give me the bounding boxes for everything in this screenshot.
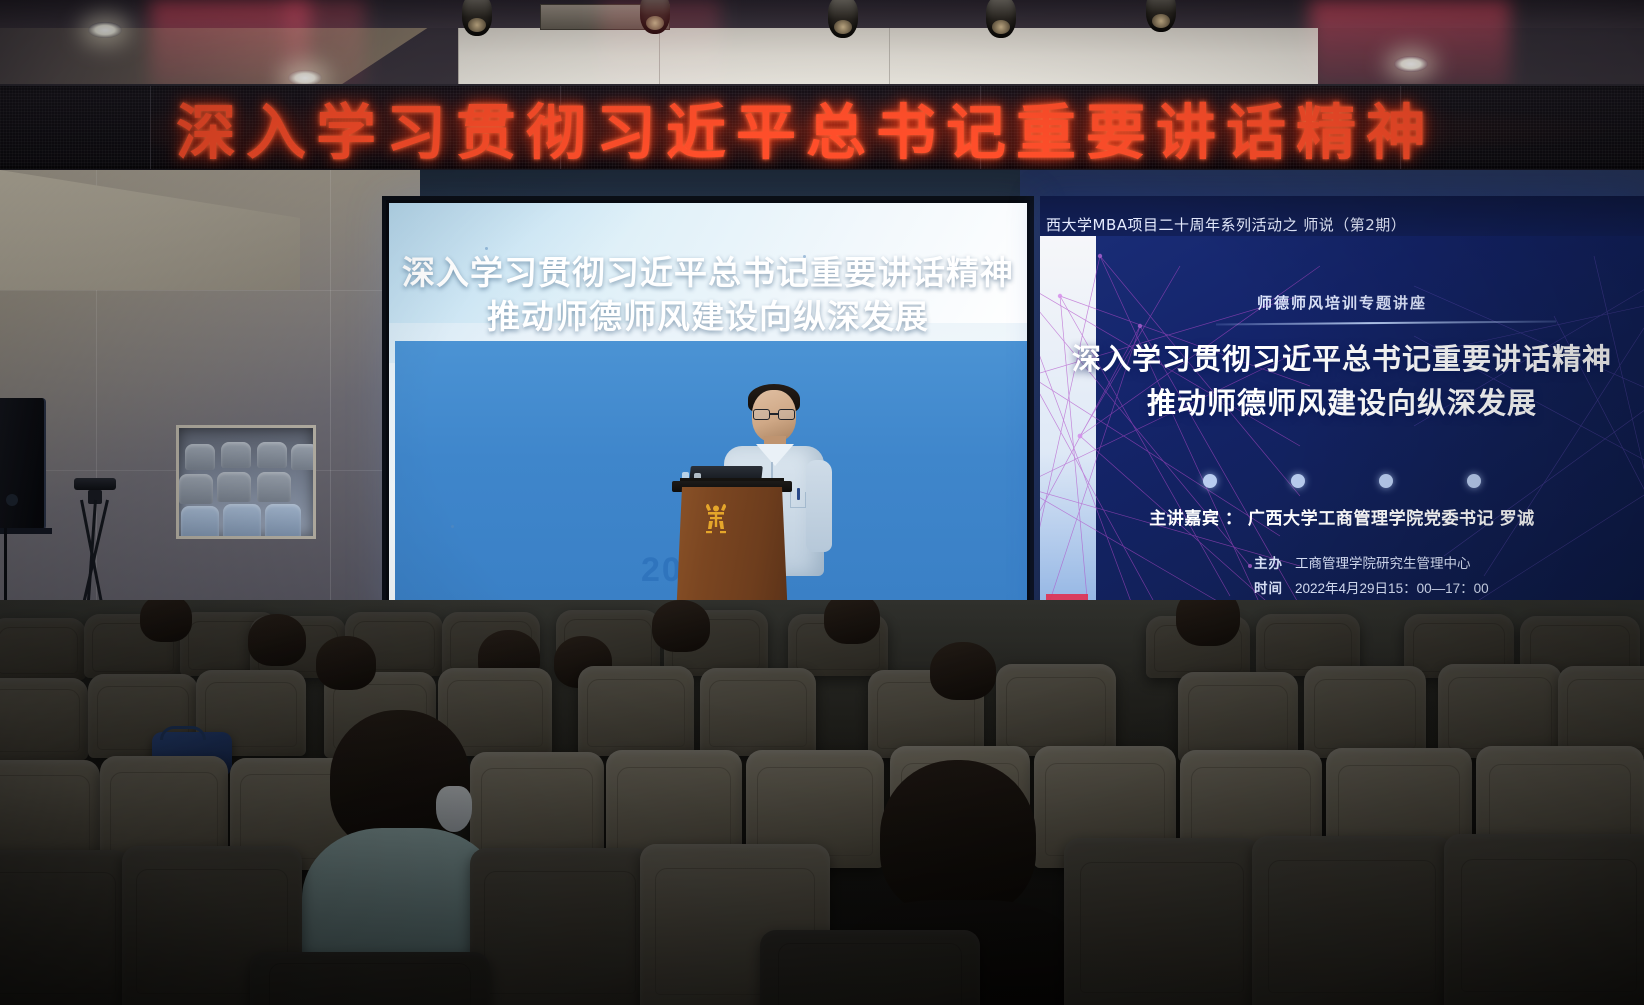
seat <box>1064 838 1260 1005</box>
seat <box>700 668 816 756</box>
ceiling-soffit <box>0 0 1644 28</box>
stage-spotlight <box>986 0 1016 38</box>
audience-head <box>316 636 376 690</box>
stage-spotlight <box>640 0 670 34</box>
face-mask <box>436 786 472 832</box>
audience-head <box>140 600 192 642</box>
side-screen-dot-row <box>1040 474 1644 488</box>
main-screen-title-line1: 深入学习贯彻习近平总书记重要讲话精神 <box>402 253 1014 292</box>
seat <box>1178 672 1298 762</box>
side-screen-subtitle: 师德师风培训专题讲座 <box>1040 292 1644 313</box>
seat <box>1438 664 1562 758</box>
ceiling-downlight <box>1394 56 1428 72</box>
auditorium-scene: 深入学习贯彻习近平总书记重要讲话精神 深入学习 <box>0 0 1644 1005</box>
stage-spotlight <box>462 0 492 36</box>
meta-row-organizer: 主办工商管理学院研究生管理中心 <box>1254 552 1489 577</box>
meta-value-organizer: 工商管理学院研究生管理中心 <box>1295 556 1471 571</box>
glasses-icon <box>752 409 796 420</box>
pa-speaker <box>0 398 46 530</box>
audience-head <box>248 614 306 666</box>
audience-head-foreground <box>880 760 1036 916</box>
side-screen-title: 深入学习贯彻习近平总书记重要讲话精神 推动师德师风建设向纵深发展 <box>1040 338 1644 425</box>
ceiling <box>0 0 1644 92</box>
side-screen-title-line1: 深入学习贯彻习近平总书记重要讲话精神 <box>1072 342 1612 376</box>
ceiling-panel-white <box>458 26 1318 92</box>
main-screen-title: 深入学习贯彻习近平总书记重要讲话精神 推动师德师风建设向纵深发展 <box>389 251 1027 339</box>
speaker-stand-foot <box>0 528 52 534</box>
meta-value-time: 2022年4月29日15：00—17：00 <box>1295 581 1489 596</box>
side-screen-divider <box>1216 321 1556 326</box>
led-banner-text: 深入学习贯彻习近平总书记重要讲话精神 <box>176 84 1436 171</box>
meta-label-time: 时间 <box>1254 581 1283 596</box>
wall-display-window <box>176 425 316 539</box>
main-screen-title-line2: 推动师德师风建设向纵深发展 <box>389 295 1027 339</box>
seat <box>250 952 490 1005</box>
side-screen-guest-line: 主讲嘉宾 ： 广西大学工商管理学院党委书记 罗诚 <box>1040 504 1644 529</box>
seat <box>0 678 88 760</box>
audience-seating <box>0 600 1644 1005</box>
meta-row-time: 时间2022年4月29日15：00—17：00 <box>1254 577 1489 602</box>
led-banner: 深入学习贯彻习近平总书记重要讲话精神 <box>0 84 1644 172</box>
seat <box>1558 666 1644 758</box>
stage-spotlight <box>828 0 858 38</box>
seat <box>1304 666 1426 758</box>
audience-head <box>824 600 880 644</box>
camera-head <box>74 478 116 490</box>
side-screen-title-line2: 推动师德师风建设向纵深发展 <box>1147 386 1537 420</box>
seat <box>760 930 980 1005</box>
side-screen-header-text: 西大学MBA项目二十周年系列活动之 师说（第2期） <box>1046 214 1406 235</box>
seat <box>0 850 130 1005</box>
seat <box>996 664 1116 756</box>
audience-head <box>930 642 996 700</box>
seat <box>1444 834 1644 1005</box>
audience-head <box>1176 600 1240 646</box>
pen-icon <box>797 488 800 500</box>
seat <box>578 666 694 756</box>
guangxi-university-emblem <box>702 502 730 536</box>
seat <box>1252 836 1452 1005</box>
speaker-arm <box>806 460 832 552</box>
meta-label-organizer: 主办 <box>1254 556 1283 571</box>
seat <box>470 848 650 1005</box>
seat <box>0 618 86 680</box>
audience-head <box>652 600 710 652</box>
side-projection-screen: 西大学MBA项目二十周年系列活动之 师说（第2期） 师德师风培训专题讲座 深入学… <box>1040 196 1644 628</box>
ceiling-downlight <box>88 22 122 38</box>
